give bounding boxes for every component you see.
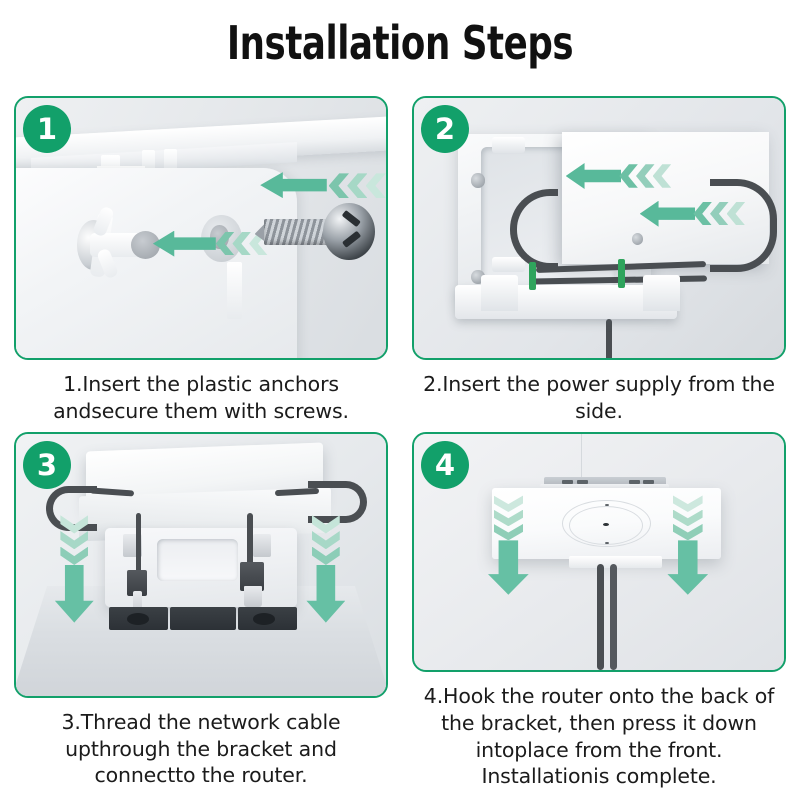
illustration-router-onto-bracket	[414, 434, 784, 670]
step-card-3: 3 3.Thread the network cable upthrough t…	[14, 432, 388, 790]
step-badge-4: 4	[421, 441, 469, 489]
page-title: Installation Steps	[56, 16, 744, 70]
step-caption-3: 3.Thread the network cable upthrough the…	[14, 709, 388, 789]
step-figure-3: 3	[14, 432, 388, 698]
illustration-power-supply-insert	[414, 98, 784, 358]
step-card-1: 1 1.Insert the plastic anchors andsecure…	[14, 96, 388, 432]
steps-grid: 1 1.Insert the plastic anchors andsecure…	[14, 96, 786, 790]
step-card-4: 4 4.Hook the router onto the back of the…	[412, 432, 786, 790]
step-badge-3: 3	[23, 441, 71, 489]
step-figure-4: 4	[412, 432, 786, 672]
step-caption-1: 1.Insert the plastic anchors andsecure t…	[14, 371, 388, 424]
installation-steps-page: Installation Steps	[0, 0, 800, 800]
step-badge-2: 2	[421, 105, 469, 153]
step-badge-1: 1	[23, 105, 71, 153]
step-figure-1: 1	[14, 96, 388, 360]
step-figure-2: 2	[412, 96, 786, 360]
illustration-wall-anchor-and-screw	[16, 98, 386, 358]
step-caption-2: 2.Insert the power supply from the side.	[412, 371, 786, 424]
illustration-network-cable-thread	[16, 434, 386, 696]
step-card-2: 2 2.Insert the power supply from the sid…	[412, 96, 786, 432]
step-caption-4: 4.Hook the router onto the back of the b…	[412, 683, 786, 790]
